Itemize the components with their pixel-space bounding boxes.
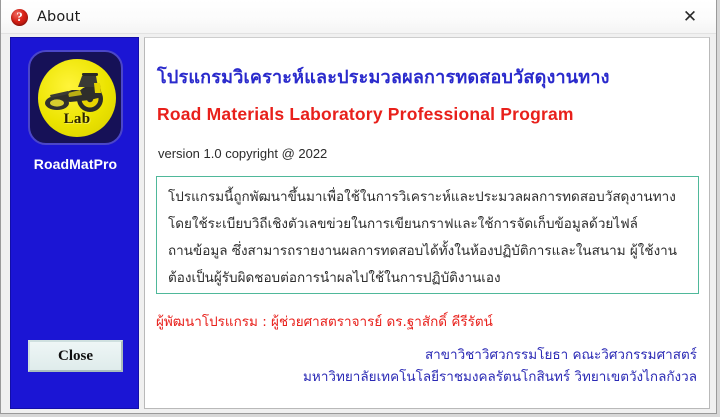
developer-credit-line: ผู้พัฒนาโปรแกรม : ผู้ช่วยศาสตราจารย์ ดร.… [156,310,493,332]
about-dialog-screen: ? About ✕ [0,0,720,417]
app-logo-circle: Lab [38,59,116,137]
window-titlebar: ? About ✕ [1,0,716,34]
program-title-thai: โปรแกรมวิเคราะห์และประมวลผลการทดสอบวัสดุ… [157,62,610,91]
version-copyright-line: version 1.0 copyright @ 2022 [158,146,327,161]
affiliation-university-line: มหาวิทยาลัยเทคโนโลยีราชมงคลรัตนโกสินทร์ … [303,365,697,387]
logo-lab-badge: Lab [38,111,116,128]
question-mark-glyph: ? [11,8,28,26]
question-mark-circle-icon: ? [11,9,28,26]
titlebar-left-group: ? About [11,0,80,34]
about-window: ? About ✕ [0,0,717,414]
description-line: โดยใช้ระเบียบวิถีเชิงตัวเลขข่วยในการเขีย… [168,212,638,234]
description-line: โปรแกรมนี้ถูกพัฒนาขึ้นมาเพื่อใช้ในการวิเ… [168,185,676,207]
description-line: ต้องเป็นผู้รับผิดชอบต่อการนำผลไปใช้ในการ… [168,266,501,288]
app-short-name: RoadMatPro [11,156,140,172]
content-panel: โปรแกรมวิเคราะห์และประมวลผลการทดสอบวัสดุ… [144,37,710,409]
program-title-english: Road Materials Laboratory Professional P… [157,104,574,125]
dialog-body: Lab RoadMatPro Close โปรแกรมวิเคราะห์และ… [1,34,716,413]
window-title: About [37,9,80,25]
close-window-button[interactable]: ✕ [668,1,712,32]
description-line: ถานข้อมูล ซึ่งสามารถรายงานผลการทดสอบได้ท… [168,239,677,261]
close-button[interactable]: Close [28,340,123,372]
affiliation-department-line: สาขาวิชาวิศวกรรมโยธา คณะวิศวกรรมศาสตร์ [425,343,697,365]
app-logo-tile: Lab [28,50,123,145]
description-textbox: โปรแกรมนี้ถูกพัฒนาขึ้นมาเพื่อใช้ในการวิเ… [156,176,699,294]
sidebar-panel: Lab RoadMatPro Close [10,37,139,409]
